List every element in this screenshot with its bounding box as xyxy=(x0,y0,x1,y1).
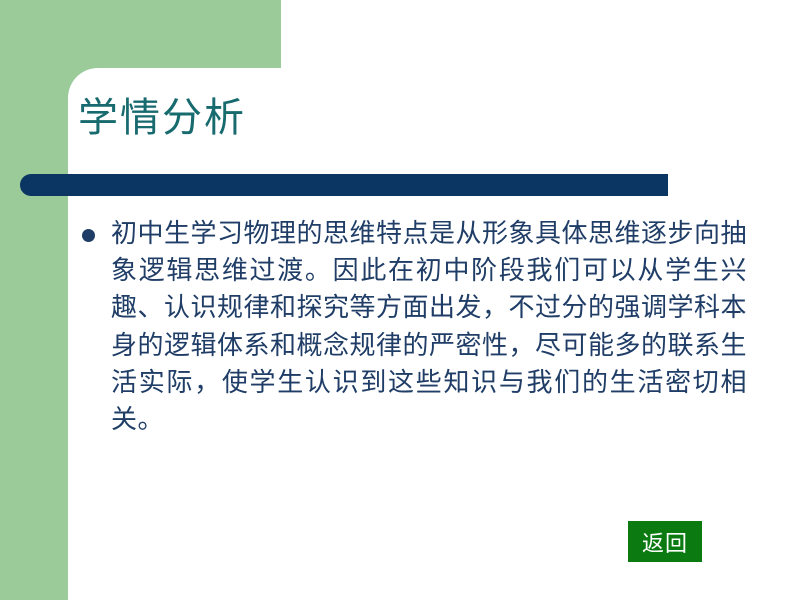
bullet-point-icon xyxy=(82,229,95,242)
bullet-item-text: 初中生学习物理的思维特点是从形象具体思维逐步向抽象逻辑思维过渡。因此在初中阶段我… xyxy=(111,216,747,439)
page-title: 学情分析 xyxy=(78,96,246,140)
decorative-green-top-band xyxy=(0,0,281,68)
decorative-green-rounded-corner xyxy=(68,68,98,98)
presentation-slide: 学情分析 初中生学习物理的思维特点是从形象具体思维逐步向抽象逻辑思维过渡。因此在… xyxy=(0,0,800,600)
bullet-list: 初中生学习物理的思维特点是从形象具体思维逐步向抽象逻辑思维过渡。因此在初中阶段我… xyxy=(82,216,747,439)
return-button[interactable]: 返回 xyxy=(628,521,702,562)
title-underline-bar xyxy=(20,174,668,196)
decorative-green-left-stripe xyxy=(0,0,68,600)
